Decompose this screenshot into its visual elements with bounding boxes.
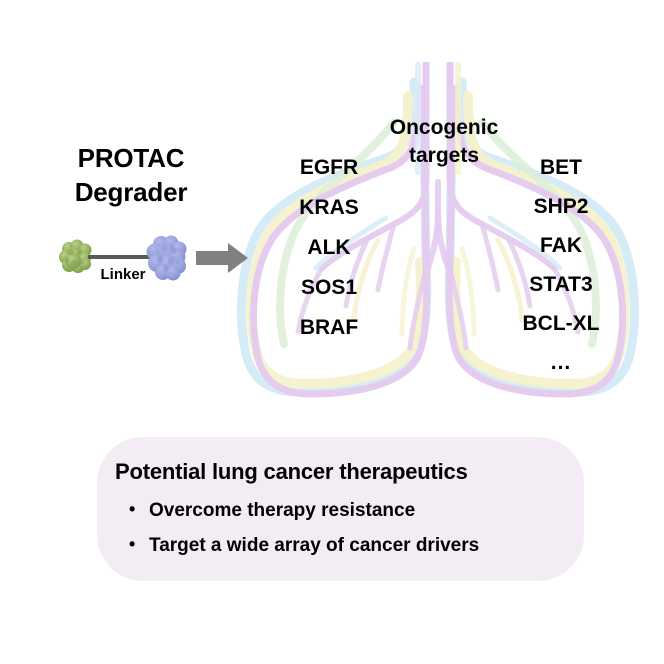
target-item: EGFR <box>270 157 388 178</box>
target-item: BCL-XL <box>502 313 620 334</box>
target-item: BET <box>502 157 620 178</box>
oncogenic-heading-line-2: targets <box>370 142 518 170</box>
targets-left-column: EGFR KRAS ALK SOS1 BRAF <box>270 157 388 357</box>
target-item: KRAS <box>270 197 388 218</box>
graphical-abstract-figure: PROTAC Degrader <box>0 0 664 664</box>
protac-title-line-1: PROTAC <box>26 141 236 175</box>
protac-degrader-title: PROTAC Degrader <box>26 141 236 210</box>
target-item: FAK <box>502 235 620 256</box>
protac-title-line-2: Degrader <box>26 175 236 209</box>
conclusion-title: Potential lung cancer therapeutics <box>115 459 468 485</box>
target-item: ALK <box>270 237 388 258</box>
conclusion-bullet-list: Overcome therapy resistance Target a wid… <box>123 501 479 571</box>
list-item: Target a wide array of cancer drivers <box>149 536 479 555</box>
oncogenic-heading-line-1: Oncogenic <box>370 114 518 142</box>
conclusion-callout: Potential lung cancer therapeutics Overc… <box>97 437 584 581</box>
target-item-ellipsis: ... <box>502 352 620 373</box>
oncogenic-targets-heading: Oncogenic targets <box>370 114 518 171</box>
arrow-right-icon <box>194 240 250 276</box>
target-item: BRAF <box>270 317 388 338</box>
protac-molecule-diagram: Linker <box>46 228 196 292</box>
list-item: Overcome therapy resistance <box>149 501 479 520</box>
linker-label: Linker <box>68 266 178 283</box>
target-item: SOS1 <box>270 277 388 298</box>
target-item: STAT3 <box>502 274 620 295</box>
targets-right-column: BET SHP2 FAK STAT3 BCL-XL ... <box>502 157 620 391</box>
target-item: SHP2 <box>502 196 620 217</box>
